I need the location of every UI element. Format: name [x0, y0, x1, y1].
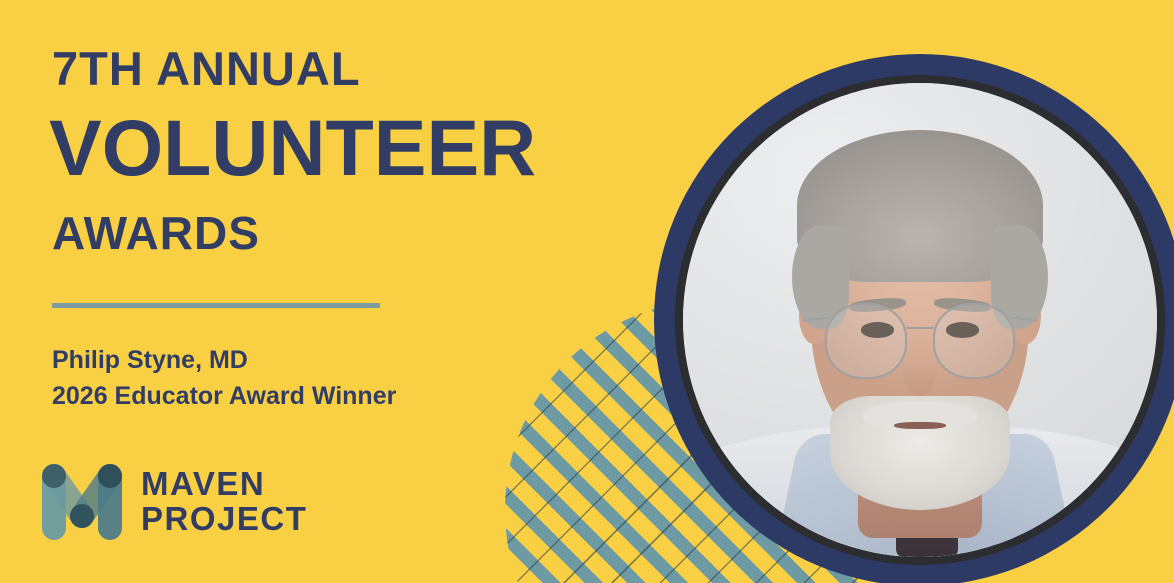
- maven-m-monogram-icon: [40, 458, 124, 544]
- honoree-name: Philip Styne, MD: [52, 346, 248, 374]
- logo-word-maven: MAVEN: [141, 466, 307, 501]
- maven-project-wordmark: MAVEN PROJECT: [141, 466, 307, 537]
- volunteer-awards-poster: 7TH ANNUAL VOLUNTEER AWARDS Philip Styne…: [0, 0, 1174, 583]
- eyeglasses-lens-right: [933, 303, 1015, 378]
- divider-rule: [52, 303, 380, 308]
- headline-main: VOLUNTEER: [49, 108, 536, 187]
- honoree-block: Philip Styne, MD 2026 Educator Award Win…: [52, 343, 396, 414]
- portrait-inner-ring: [675, 75, 1165, 565]
- logo-word-project: PROJECT: [141, 501, 307, 536]
- headline-kicker: 7TH ANNUAL: [52, 45, 361, 92]
- eyeglasses-lens-left: [825, 303, 907, 378]
- headline-sub: AWARDS: [52, 210, 260, 256]
- honoree-award: 2026 Educator Award Winner: [52, 379, 396, 415]
- portrait-circle: [654, 54, 1174, 583]
- eyeglasses-bridge: [906, 327, 934, 329]
- maven-project-logo: MAVEN PROJECT: [40, 458, 307, 544]
- honoree-photo: [683, 83, 1157, 557]
- photo-nose: [903, 344, 936, 396]
